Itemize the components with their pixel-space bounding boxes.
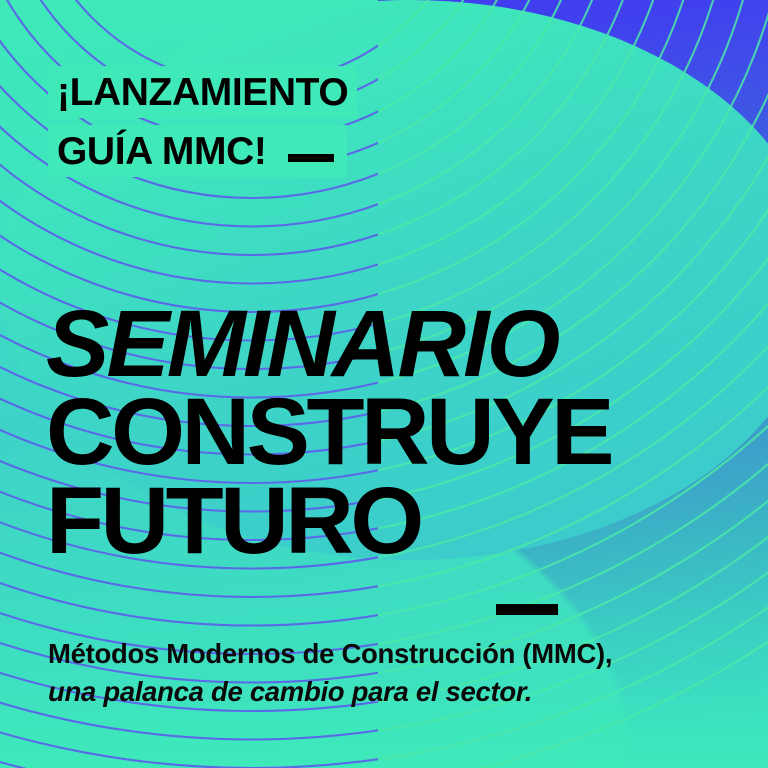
headline-line-3: FUTURO [46, 477, 611, 565]
poster-canvas: ¡LANZAMIENTO GUÍA MMC! SEMINARIO CONSTRU… [0, 0, 768, 768]
headline-line-1: SEMINARIO [46, 300, 611, 388]
kicker-line-2-text: GUÍA MMC! [57, 132, 266, 171]
kicker-block: ¡LANZAMIENTO GUÍA MMC! [48, 66, 357, 177]
underscore-rule-icon [496, 604, 558, 615]
subtitle-block: Métodos Modernos de Construcción (MMC), … [48, 635, 612, 711]
subtitle-line-2: una palanca de cambio para el sector. [48, 673, 612, 711]
em-dash-rule-icon [288, 154, 334, 162]
headline-line-2: CONSTRUYE [46, 388, 611, 476]
subtitle-line-1: Métodos Modernos de Construcción (MMC), [48, 635, 612, 673]
kicker-line-1: ¡LANZAMIENTO [48, 66, 357, 118]
headline-block: SEMINARIO CONSTRUYE FUTURO [46, 300, 611, 565]
kicker-line-1-text: ¡LANZAMIENTO [57, 73, 348, 112]
poster-content: ¡LANZAMIENTO GUÍA MMC! SEMINARIO CONSTRU… [0, 0, 768, 768]
kicker-line-2: GUÍA MMC! [48, 125, 347, 177]
